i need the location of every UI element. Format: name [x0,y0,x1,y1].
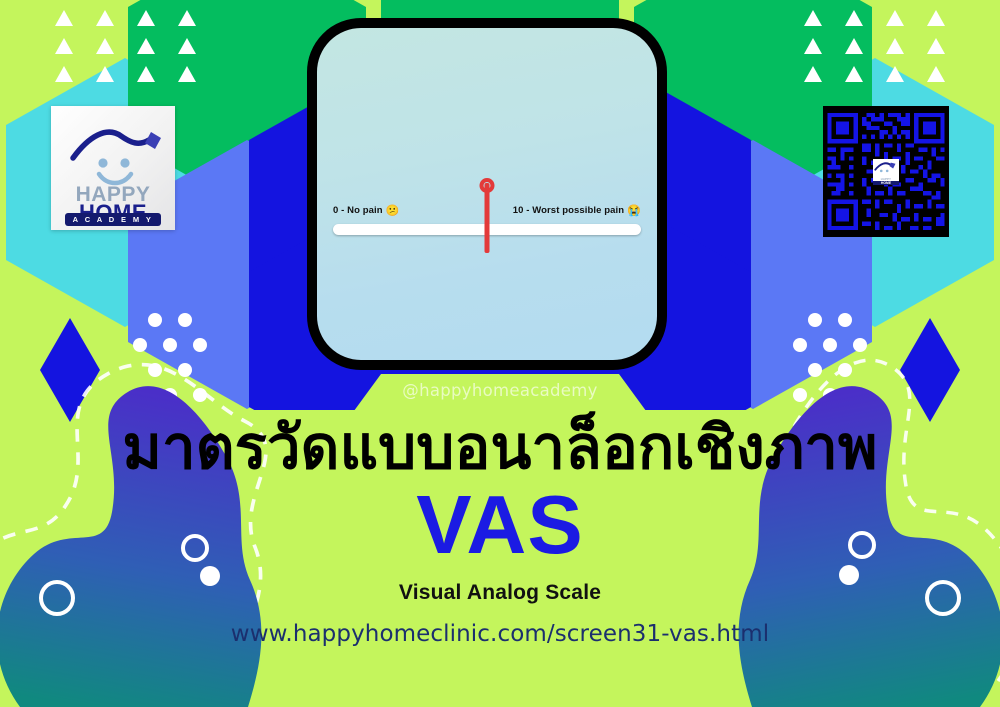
website-url[interactable]: www.happyhomeclinic.com/screen31-vas.htm… [0,621,1000,647]
vas-left-label: 0 - No pain [333,205,383,216]
qr-code[interactable]: HAPPY HOME [823,106,949,237]
happy-home-academy-logo: HAPPY HOME A C A D E M Y [51,106,175,230]
vas-right-label-group: 10 - Worst possible pain 😭 [513,204,641,217]
vas-left-label-group: 0 - No pain 😕 [333,204,399,217]
qr-center-logo: HAPPY HOME [873,159,899,185]
logo-artwork: HAPPY HOME [51,106,175,230]
page-subtitle: Visual Analog Scale [0,581,1000,605]
vas-right-label: 10 - Worst possible pain [513,205,625,216]
phone-mockup: 0 - No pain 😕 10 - Worst possible pain 😭 [307,18,667,370]
qr-center-logo-art [873,159,899,178]
logo-academy-badge: A C A D E M Y [65,213,161,226]
qr-logo-home: HOME [873,181,899,185]
crying-face-icon: 😭 [627,204,641,217]
tassel-icon [145,132,161,149]
poster-canvas: HAPPY HOME A C A D E M Y [0,0,1000,707]
page-title-thai: มาตรวัดแบบอนาล็อกเชิงภาพ [0,417,1000,480]
confused-face-icon: 😕 [386,204,400,217]
vas-slider-marker[interactable] [485,183,490,253]
vas-slider-knob[interactable] [480,178,495,193]
phone-screen: 0 - No pain 😕 10 - Worst possible pain 😭 [317,28,657,360]
page-title-acronym: VAS [0,483,1000,566]
logo-academy-text: A C A D E M Y [73,215,154,224]
watermark: @happyhomeacademy [0,381,1000,400]
